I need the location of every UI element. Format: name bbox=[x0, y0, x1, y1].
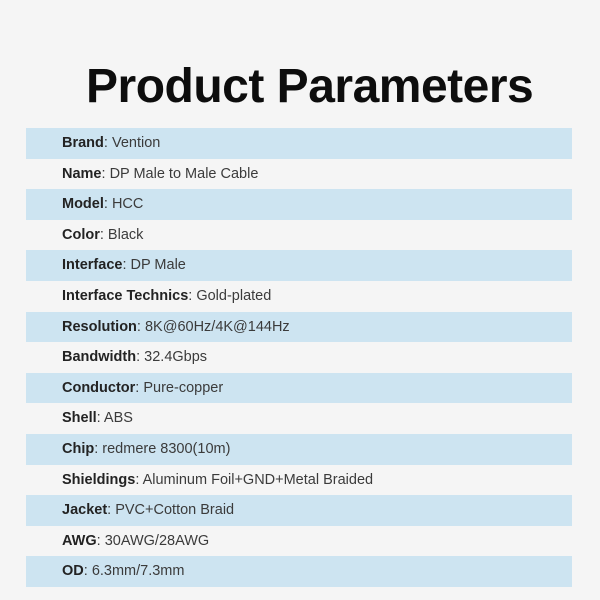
spec-line: AWG: 30AWG/28AWG bbox=[62, 534, 209, 549]
spec-value: 6.3mm/7.3mm bbox=[92, 563, 185, 579]
spec-label: Jacket bbox=[62, 502, 107, 518]
table-row: OD: 6.3mm/7.3mm bbox=[26, 556, 572, 587]
table-row: Color: Black bbox=[26, 220, 572, 251]
spec-separator: : bbox=[97, 533, 105, 549]
table-row: Bandwidth: 32.4Gbps bbox=[26, 342, 572, 373]
spec-label: Bandwidth bbox=[62, 349, 136, 365]
spec-label: AWG bbox=[62, 533, 97, 549]
spec-line: Model: HCC bbox=[62, 197, 143, 212]
spec-label: Shieldings bbox=[62, 472, 135, 488]
spec-line: Conductor: Pure-copper bbox=[62, 381, 223, 396]
spec-line: Brand: Vention bbox=[62, 136, 160, 151]
spec-value: HCC bbox=[112, 196, 143, 212]
spec-value: redmere 8300(10m) bbox=[102, 441, 230, 457]
table-row: Interface Technics: Gold-plated bbox=[26, 281, 572, 312]
spec-line: OD: 6.3mm/7.3mm bbox=[62, 564, 184, 579]
spec-line: Resolution: 8K@60Hz/4K@144Hz bbox=[62, 320, 290, 335]
spec-label: Brand bbox=[62, 135, 104, 151]
spec-separator: : bbox=[107, 502, 115, 518]
spec-label: Resolution bbox=[62, 319, 137, 335]
spec-separator: : bbox=[102, 166, 110, 182]
spec-line: Name: DP Male to Male Cable bbox=[62, 167, 258, 182]
table-row: AWG: 30AWG/28AWG bbox=[26, 526, 572, 557]
spec-value: Aluminum Foil+GND+Metal Braided bbox=[143, 472, 373, 488]
table-row: Chip: redmere 8300(10m) bbox=[26, 434, 572, 465]
spec-line: Color: Black bbox=[62, 228, 143, 243]
spec-table: Brand: VentionName: DP Male to Male Cabl… bbox=[26, 128, 572, 587]
spec-value: ABS bbox=[104, 410, 133, 426]
spec-separator: : bbox=[104, 196, 112, 212]
spec-value: Pure-copper bbox=[143, 380, 223, 396]
table-row: Name: DP Male to Male Cable bbox=[26, 159, 572, 190]
spec-value: Gold-plated bbox=[196, 288, 271, 304]
table-row: Brand: Vention bbox=[26, 128, 572, 159]
spec-separator: : bbox=[122, 257, 130, 273]
spec-label: Name bbox=[62, 166, 102, 182]
spec-line: Jacket: PVC+Cotton Braid bbox=[62, 503, 234, 518]
spec-separator: : bbox=[137, 319, 145, 335]
spec-value: DP Male to Male Cable bbox=[110, 166, 259, 182]
spec-line: Shell: ABS bbox=[62, 411, 133, 426]
spec-label: OD bbox=[62, 563, 84, 579]
spec-line: Interface: DP Male bbox=[62, 258, 186, 273]
table-row: Interface: DP Male bbox=[26, 250, 572, 281]
spec-value: PVC+Cotton Braid bbox=[115, 502, 234, 518]
spec-line: Chip: redmere 8300(10m) bbox=[62, 442, 230, 457]
spec-value: 8K@60Hz/4K@144Hz bbox=[145, 319, 290, 335]
table-row: Jacket: PVC+Cotton Braid bbox=[26, 495, 572, 526]
spec-value: DP Male bbox=[131, 257, 186, 273]
spec-separator: : bbox=[135, 472, 142, 488]
page-title: Product Parameters bbox=[86, 58, 533, 116]
spec-value: 32.4Gbps bbox=[144, 349, 207, 365]
spec-label: Model bbox=[62, 196, 104, 212]
spec-label: Interface Technics bbox=[62, 288, 188, 304]
spec-value: Black bbox=[108, 227, 143, 243]
spec-label: Shell bbox=[62, 410, 97, 426]
spec-label: Conductor bbox=[62, 380, 135, 396]
spec-separator: : bbox=[100, 227, 108, 243]
spec-separator: : bbox=[97, 410, 104, 426]
table-row: Shell: ABS bbox=[26, 403, 572, 434]
spec-value: Vention bbox=[112, 135, 160, 151]
spec-separator: : bbox=[136, 349, 144, 365]
table-row: Conductor: Pure-copper bbox=[26, 373, 572, 404]
spec-value: 30AWG/28AWG bbox=[105, 533, 209, 549]
spec-label: Interface bbox=[62, 257, 122, 273]
spec-label: Chip bbox=[62, 441, 94, 457]
table-row: Resolution: 8K@60Hz/4K@144Hz bbox=[26, 312, 572, 343]
spec-line: Shieldings: Aluminum Foil+GND+Metal Brai… bbox=[62, 473, 373, 488]
spec-separator: : bbox=[104, 135, 112, 151]
spec-separator: : bbox=[84, 563, 92, 579]
table-row: Shieldings: Aluminum Foil+GND+Metal Brai… bbox=[26, 465, 572, 496]
spec-line: Bandwidth: 32.4Gbps bbox=[62, 350, 207, 365]
table-row: Model: HCC bbox=[26, 189, 572, 220]
spec-label: Color bbox=[62, 227, 100, 243]
product-parameters-page: Product Parameters Brand: VentionName: D… bbox=[0, 0, 600, 600]
spec-line: Interface Technics: Gold-plated bbox=[62, 289, 271, 304]
